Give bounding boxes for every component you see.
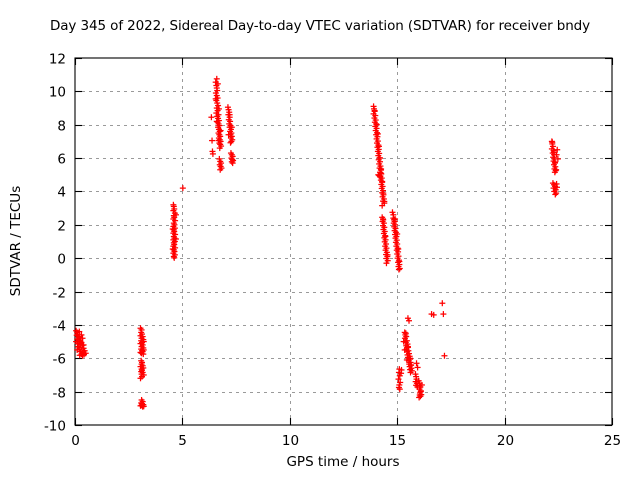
axis-tick-labels: -10-8-6-4-20246810120510152025 [44, 52, 621, 450]
y-axis-label: SDTVAR / TECUs [8, 186, 24, 296]
y-tick-label: 6 [57, 152, 66, 168]
x-tick-label: 25 [604, 433, 621, 449]
y-tick-label: 0 [57, 252, 66, 268]
data-point-marker [208, 114, 214, 120]
x-tick-label: 5 [178, 433, 187, 449]
data-point-marker [441, 353, 447, 359]
data-point-marker [180, 185, 186, 191]
y-tick-label: -6 [53, 352, 66, 368]
y-tick-label: -2 [53, 286, 66, 302]
y-tick-label: 4 [57, 185, 66, 201]
data-point-marker [552, 191, 558, 197]
x-tick-label: 10 [282, 433, 299, 449]
data-point-marker [214, 76, 220, 82]
y-tick-label: 2 [57, 219, 66, 235]
y-tick-label: 8 [57, 119, 66, 135]
x-tick-label: 20 [497, 433, 514, 449]
data-point-marker [171, 255, 177, 261]
y-tick-label: -10 [44, 419, 66, 435]
plot-frame [75, 58, 612, 425]
x-tick-label: 0 [71, 433, 80, 449]
data-point-marker [439, 300, 445, 306]
data-point-marker [415, 364, 421, 370]
y-tick-label: -4 [53, 319, 66, 335]
y-tick-label: -8 [53, 386, 66, 402]
data-point-marker [209, 138, 215, 144]
x-axis-label: GPS time / hours [286, 454, 399, 470]
data-point-marker [396, 267, 402, 273]
axis-ticks [75, 58, 613, 426]
y-tick-label: 12 [49, 52, 66, 68]
data-point-marker [414, 360, 420, 366]
y-tick-label: 10 [49, 85, 66, 101]
grid-lines [75, 58, 612, 425]
scatter-plot: -10-8-6-4-20246810120510152025 GPS time … [0, 0, 640, 480]
data-point-marker [440, 311, 446, 317]
chart-figure: Day 345 of 2022, Sidereal Day-to-day VTE… [0, 0, 640, 480]
x-tick-label: 15 [389, 433, 406, 449]
